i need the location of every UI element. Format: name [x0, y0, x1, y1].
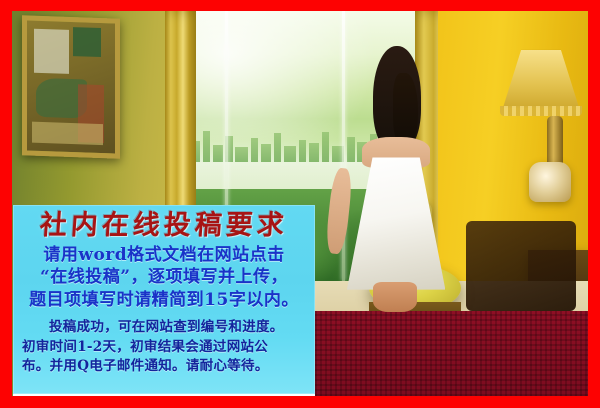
red-carpet: [300, 311, 588, 396]
dark-chair: [466, 221, 576, 311]
body-line-1: 请用word格式文档在网站点击: [19, 244, 309, 266]
body-line-3: 题目项填写时请精简到15字以内。: [19, 289, 309, 311]
woman-figure: [340, 46, 449, 300]
poster-canvas: 社内在线投稿要求 请用word格式文档在网站点击 “在线投稿”，逐项填写并上传，…: [0, 0, 600, 408]
note-line-2: 初审时间1-2天，初审结果会通过网站公: [22, 338, 306, 358]
lamp-stem: [547, 116, 563, 168]
woman-legs: [373, 282, 417, 312]
lamp-base: [529, 162, 571, 202]
announcement-body: 请用word格式文档在网站点击 “在线投稿”，逐项填写并上传， 题目项填写时请精…: [13, 244, 315, 311]
note-line-3: 布。并用Q电子邮件通知。请耐心等待。: [22, 357, 306, 377]
woman-dress: [347, 157, 445, 289]
lamp-shade: [503, 50, 579, 108]
lamp-fringe: [500, 106, 582, 116]
note-line-1: 投稿成功，可在网站查到编号和进度。: [22, 318, 306, 338]
panel-bottom-strip: [13, 394, 315, 396]
announcement-panel: 社内在线投稿要求 请用word格式文档在网站点击 “在线投稿”，逐项填写并上传，…: [13, 205, 315, 394]
announcement-note: 投稿成功，可在网站查到编号和进度。 初审时间1-2天，初审结果会通过网站公 布。…: [13, 318, 315, 377]
body-line-2: “在线投稿”，逐项填写并上传，: [19, 266, 309, 288]
announcement-title: 社内在线投稿要求: [12, 205, 317, 243]
framed-painting: [22, 15, 120, 158]
